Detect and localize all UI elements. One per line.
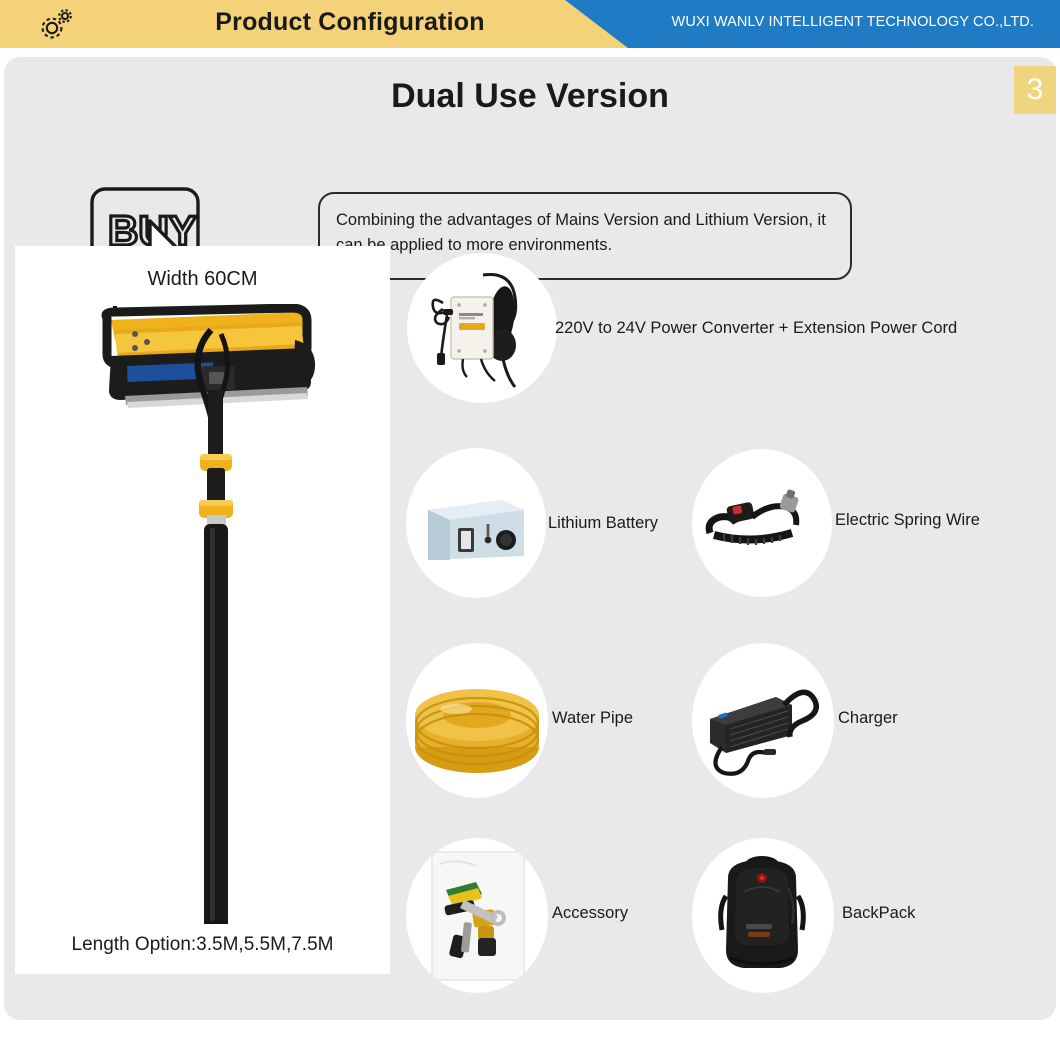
gear-icon — [38, 7, 74, 41]
water-pipe-icon — [406, 643, 548, 798]
accessory-item-lithium-battery[interactable]: Lithium Battery — [406, 448, 706, 598]
accessory-image-bubble — [406, 838, 548, 993]
power-converter-icon — [407, 253, 557, 403]
charger-icon — [692, 643, 834, 798]
accessory-item-power-converter[interactable]: 220V to 24V Power Converter + Extension … — [407, 253, 1027, 403]
window-cleaning-brush-illustration — [15, 304, 390, 924]
product-image-card: Width 60CM — [15, 246, 390, 974]
company-name: WUXI WANLV INTELLIGENT TECHNOLOGY CO.,LT… — [672, 14, 1034, 30]
page-header: Product Configuration WUXI WANLV INTELLI… — [0, 0, 1060, 48]
accessory-image-bubble — [406, 643, 548, 798]
accessory-item-water-pipe[interactable]: Water Pipe — [406, 643, 706, 798]
accessory-label: 220V to 24V Power Converter + Extension … — [555, 319, 957, 338]
accessory-label: Water Pipe — [552, 709, 633, 728]
lithium-battery-icon — [406, 448, 546, 598]
accessory-label: Charger — [838, 709, 898, 728]
accessory-image-bubble — [692, 643, 834, 798]
accessory-label: Lithium Battery — [548, 514, 658, 533]
accessory-item-charger[interactable]: Charger — [692, 643, 1022, 798]
accessory-bag-icon — [406, 838, 548, 993]
accessory-label: Electric Spring Wire — [835, 511, 980, 530]
accessory-image-bubble — [692, 449, 832, 597]
accessory-image-bubble — [407, 253, 557, 403]
width-label: Width 60CM — [15, 268, 390, 291]
accessory-item-backpack[interactable]: BackPack — [692, 838, 1022, 993]
description-text: Combining the advantages of Mains Versio… — [336, 208, 834, 258]
accessory-image-bubble — [406, 448, 546, 598]
accessory-label: BackPack — [842, 904, 915, 923]
content-panel: 3 Dual Use Version BUY Combining the adv… — [4, 57, 1056, 1020]
accessory-item-accessory-bag[interactable]: Accessory — [406, 838, 706, 993]
accessory-image-bubble — [692, 838, 834, 993]
backpack-icon — [692, 838, 834, 993]
length-option-label: Length Option:3.5M,5.5M,7.5M — [15, 934, 390, 956]
accessory-label: Accessory — [552, 904, 628, 923]
page-title: Product Configuration — [160, 8, 540, 37]
spring-wire-icon — [692, 449, 832, 597]
section-title: Dual Use Version — [4, 77, 1056, 116]
accessory-item-spring-wire[interactable]: Electric Spring Wire — [692, 449, 1022, 597]
